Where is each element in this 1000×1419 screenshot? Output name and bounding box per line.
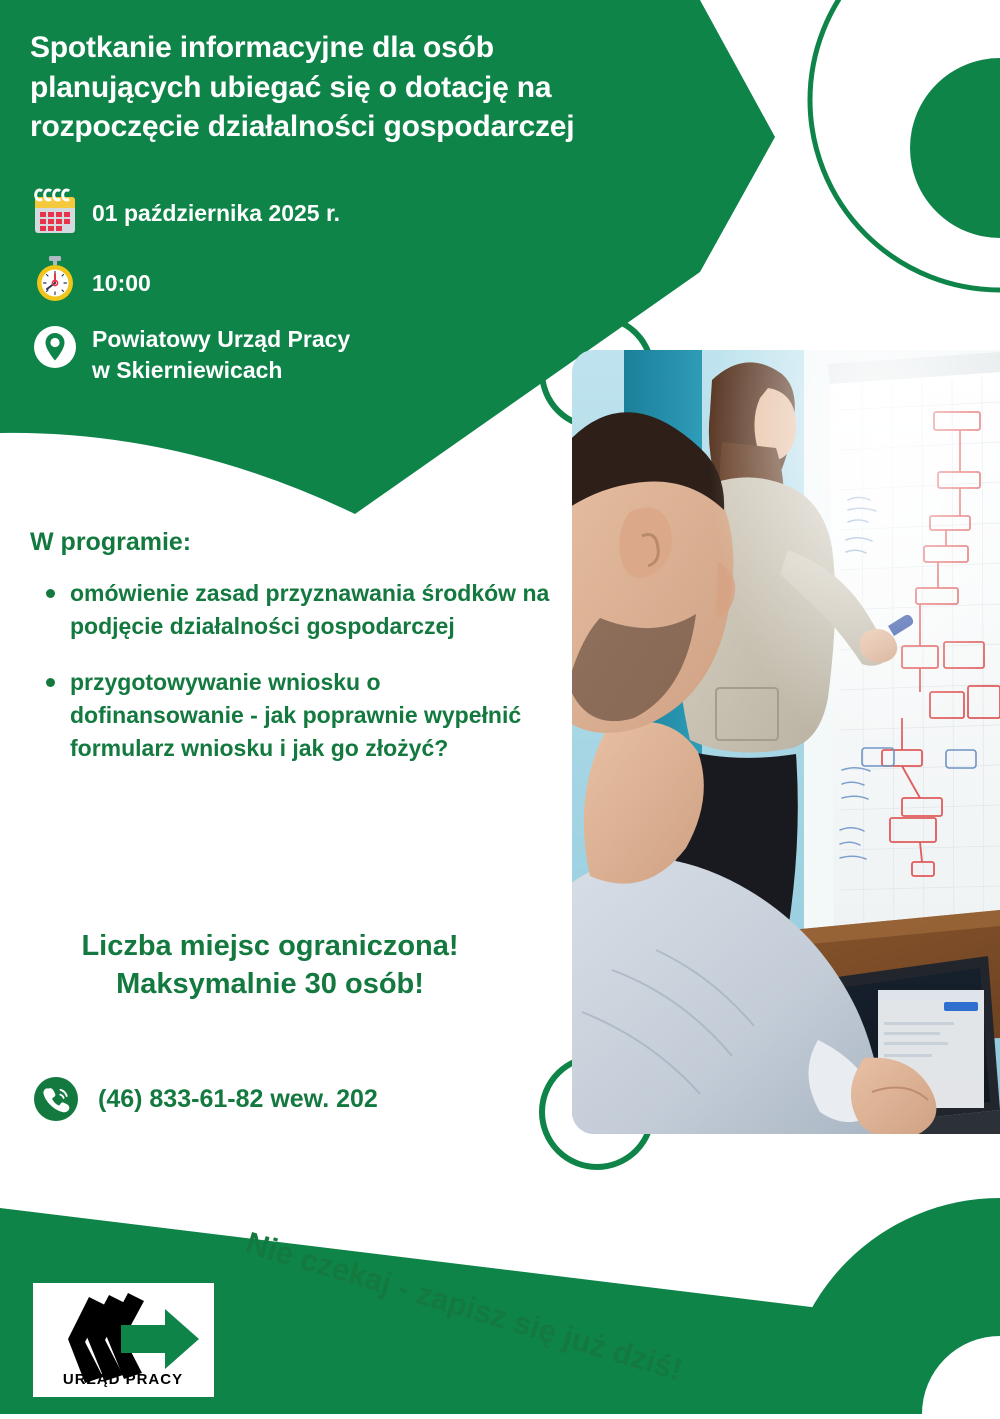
seats-limit-note: Liczba miejsc ograniczona! Maksymalnie 3…: [10, 928, 530, 1003]
list-item: omówienie zasad przyznawania środków na …: [30, 577, 550, 642]
seats-limit-line-2: Maksymalnie 30 osób!: [10, 966, 530, 1004]
contact-phone-row[interactable]: (46) 833-61-82 wew. 202: [28, 1075, 378, 1123]
business-meeting-photo: [572, 350, 1000, 1134]
poster-root: Spotkanie informacyjne dla osób planując…: [0, 0, 1000, 1414]
list-item: przygotowywanie wniosku o dofinansowanie…: [30, 666, 550, 764]
urzad-pracy-logo: URZĄD PRACY: [33, 1283, 214, 1397]
contact-phone-number[interactable]: (46) 833-61-82 wew. 202: [84, 1085, 378, 1114]
program-heading: W programie:: [30, 528, 550, 557]
page-title: Spotkanie informacyjne dla osób planując…: [30, 28, 670, 147]
logo-wordmark: URZĄD PRACY: [63, 1371, 183, 1388]
calendar-icon: [28, 186, 82, 236]
bullet-dot-icon: [46, 678, 55, 687]
seats-limit-line-1: Liczba miejsc ograniczona!: [10, 928, 530, 966]
program-section: W programie: omówienie zasad przyznawani…: [30, 528, 550, 788]
event-date-row: 01 października 2025 r.: [28, 186, 548, 236]
program-item-text: omówienie zasad przyznawania środków na …: [70, 580, 549, 639]
program-list: omówienie zasad przyznawania środków na …: [30, 577, 550, 764]
event-info-list: 01 października 2025 r.: [28, 186, 548, 404]
program-item-text: przygotowywanie wniosku o dofinansowanie…: [70, 669, 521, 760]
event-place-row: Powiatowy Urząd Pracy w Skierniewicach: [28, 322, 548, 386]
event-date-label: 01 października 2025 r.: [82, 186, 340, 229]
location-pin-icon: [28, 322, 82, 372]
event-time-row: 10:00: [28, 254, 548, 304]
event-place-label: Powiatowy Urząd Pracy w Skierniewicach: [82, 322, 350, 386]
event-time-label: 10:00: [82, 254, 151, 299]
stopwatch-icon: [28, 254, 82, 304]
bullet-dot-icon: [46, 589, 55, 598]
phone-icon: [28, 1075, 84, 1123]
